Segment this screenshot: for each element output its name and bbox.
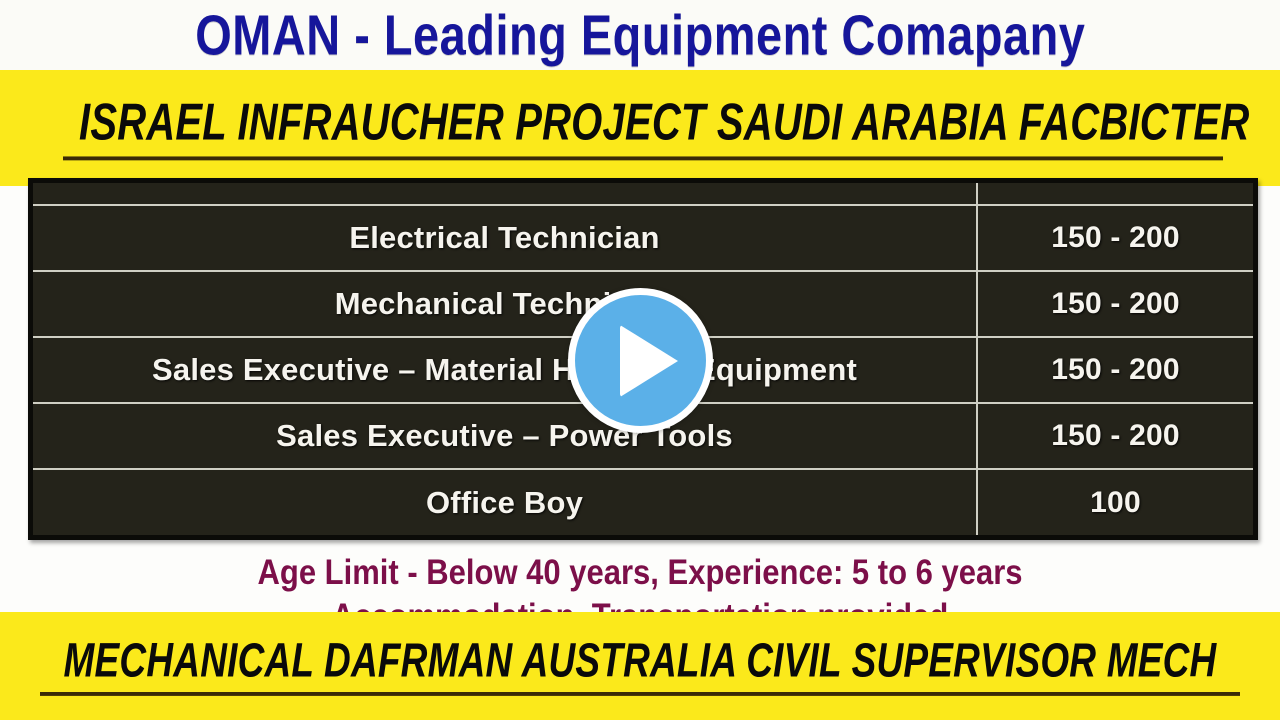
salary-cell: 150 - 200 [977,205,1253,271]
bottom-yellow-banner: MECHANICAL DAFRMAN AUSTRALIA CIVIL SUPER… [0,612,1280,720]
salary-cell: 100 [977,469,1253,535]
header-strip: OMAN - Leading Equipment Comapany [0,0,1280,70]
role-cell: Sales Executive – Material Handling Equi… [33,337,977,403]
video-thumbnail-screen: OMAN - Leading Equipment Comapany ISRAEL… [0,0,1280,720]
bottom-banner-text: MECHANICAL DAFRMAN AUSTRALIA CIVIL SUPER… [40,636,1240,696]
table-row: Office Boy 100 [33,469,1253,535]
play-icon [620,325,678,397]
salary-cell: 150 - 200 [977,271,1253,337]
play-button[interactable] [568,288,713,433]
top-banner-text: ISRAEL INFRAUCHER PROJECT SAUDI ARABIA F… [63,96,1223,160]
top-yellow-banner: ISRAEL INFRAUCHER PROJECT SAUDI ARABIA F… [0,70,1280,186]
clipped-salary-cell [977,183,1253,205]
page-title: OMAN - Leading Equipment Comapany [195,2,1085,68]
role-cell: Electrical Technician [33,205,977,271]
table-row: Electrical Technician 150 - 200 [33,205,1253,271]
clipped-role-cell [33,183,977,205]
salary-cell: 150 - 200 [977,337,1253,403]
role-cell: Mechanical Technician [33,271,977,337]
role-cell: Sales Executive – Power Tools [33,403,977,469]
table-row-clipped [33,183,1253,205]
age-experience-note: Age Limit - Below 40 years, Experience: … [0,552,1280,593]
salary-cell: 150 - 200 [977,403,1253,469]
role-cell: Office Boy [33,469,977,535]
